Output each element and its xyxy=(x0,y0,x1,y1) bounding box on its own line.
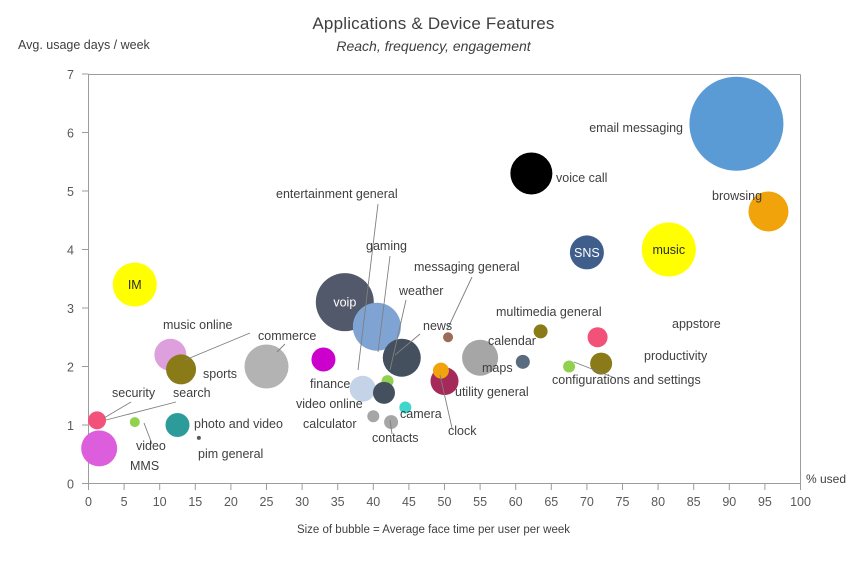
bubble-label-weather: weather xyxy=(398,284,443,298)
leader-line-security xyxy=(104,402,131,418)
bubble-label-MMS: MMS xyxy=(130,459,159,473)
bubble-voice-call[interactable] xyxy=(510,152,552,194)
bubble-clock[interactable] xyxy=(433,363,449,379)
x-tick-label: 30 xyxy=(295,495,309,509)
y-tick-label: 0 xyxy=(67,478,74,492)
bubble-label-clock: clock xyxy=(448,424,477,438)
x-tick-label: 95 xyxy=(758,495,772,509)
bubble-label-sports: sports xyxy=(203,367,237,381)
bubble-calculator[interactable] xyxy=(367,410,379,422)
bubble-label-commerce: commerce xyxy=(258,329,316,343)
x-tick-label: 5 xyxy=(121,495,128,509)
bubble-label-voip: voip xyxy=(333,296,356,310)
x-tick-label: 10 xyxy=(153,495,167,509)
bubble-label-photo-and-video: photo and video xyxy=(194,417,283,431)
x-tick-label: 40 xyxy=(366,495,380,509)
bubble-label-configurations-and-settings: configurations and settings xyxy=(552,373,701,387)
bubble-security[interactable] xyxy=(88,411,106,429)
bubble-sports[interactable] xyxy=(166,354,196,384)
bubble-label-SNS: SNS xyxy=(574,246,600,260)
y-tick-label: 5 xyxy=(67,185,74,199)
bubble-label-video: video xyxy=(136,439,166,453)
bubble-label-calculator: calculator xyxy=(303,417,357,431)
x-tick-label: 0 xyxy=(85,495,92,509)
bubble-label-voice-call: voice call xyxy=(556,171,607,185)
x-tick-label: 25 xyxy=(260,495,274,509)
bubble-label-video-online: video online xyxy=(296,397,363,411)
bubble-search[interactable] xyxy=(130,417,140,427)
bubble-label-security: security xyxy=(112,386,156,400)
x-tick-label: 85 xyxy=(687,495,701,509)
x-tick-label: 80 xyxy=(651,495,665,509)
bubble-label-multimedia-general: multimedia general xyxy=(496,305,602,319)
bubble-label-IM: IM xyxy=(128,278,142,292)
x-tick-label: 55 xyxy=(473,495,487,509)
bubble-messaging-general[interactable] xyxy=(443,332,453,342)
bubble-appstore[interactable] xyxy=(588,327,608,347)
bubble-chart: Applications & Device Features Reach, fr… xyxy=(0,0,867,571)
y-tick-group: 01234567 xyxy=(67,68,88,492)
bubble-maps[interactable] xyxy=(516,355,530,369)
x-tick-label: 45 xyxy=(402,495,416,509)
bubble-label-camera: camera xyxy=(400,407,442,421)
bubble-label-group: email messagingvoice callbrowsingmusicSN… xyxy=(112,121,762,473)
bubble-news[interactable] xyxy=(383,339,421,377)
plot-svg: 01234567 0510152025303540455055606570758… xyxy=(0,0,867,571)
bubble-finance[interactable] xyxy=(311,347,335,371)
bubble-video-online[interactable] xyxy=(373,382,395,404)
bubble-label-appstore: appstore xyxy=(672,317,721,331)
x-tick-label: 60 xyxy=(509,495,523,509)
bubble-label-browsing: browsing xyxy=(712,189,762,203)
bubble-label-gaming: gaming xyxy=(366,239,407,253)
x-tick-label: 20 xyxy=(224,495,238,509)
bubble-label-email-messaging: email messaging xyxy=(589,121,683,135)
bubble-pim-general[interactable] xyxy=(197,436,201,440)
bubble-label-contacts: contacts xyxy=(372,431,419,445)
y-tick-label: 7 xyxy=(67,68,74,82)
bubble-label-music-online: music online xyxy=(163,318,233,332)
y-tick-label: 6 xyxy=(67,127,74,141)
bubble-label-utility-general: utility general xyxy=(455,385,529,399)
bubble-label-music: music xyxy=(652,243,685,257)
bubble-label-finance: finance xyxy=(310,377,350,391)
bubble-label-news: news xyxy=(423,319,452,333)
bubble-label-maps: maps xyxy=(482,361,513,375)
bubble-label-entertainment-general: entertainment general xyxy=(276,187,398,201)
x-tick-label: 15 xyxy=(188,495,202,509)
bubble-label-messaging-general: messaging general xyxy=(414,260,520,274)
bubble-configurations-and-settings[interactable] xyxy=(563,361,575,373)
x-tick-label: 90 xyxy=(722,495,736,509)
bubble-MMS[interactable] xyxy=(81,430,117,466)
bubble-photo-and-video[interactable] xyxy=(166,413,190,437)
leader-line-music-online xyxy=(185,333,250,360)
bubble-label-pim-general: pim general xyxy=(198,447,263,461)
y-tick-label: 1 xyxy=(67,419,74,433)
x-tick-group: 0510152025303540455055606570758085909510… xyxy=(85,484,811,510)
bubble-label-search: search xyxy=(173,386,211,400)
x-tick-label: 35 xyxy=(331,495,345,509)
y-tick-label: 3 xyxy=(67,302,74,316)
bubble-productivity[interactable] xyxy=(590,353,612,375)
x-tick-label: 65 xyxy=(544,495,558,509)
bubble-label-productivity: productivity xyxy=(644,349,708,363)
x-tick-label: 75 xyxy=(616,495,630,509)
bubble-label-calendar: calendar xyxy=(488,334,536,348)
bubble-email-messaging[interactable] xyxy=(689,77,783,171)
x-tick-label: 50 xyxy=(438,495,452,509)
y-tick-label: 2 xyxy=(67,361,74,375)
x-tick-label: 100 xyxy=(790,495,811,509)
x-tick-label: 70 xyxy=(580,495,594,509)
bubble-commerce[interactable] xyxy=(245,345,289,389)
y-tick-label: 4 xyxy=(67,244,74,258)
